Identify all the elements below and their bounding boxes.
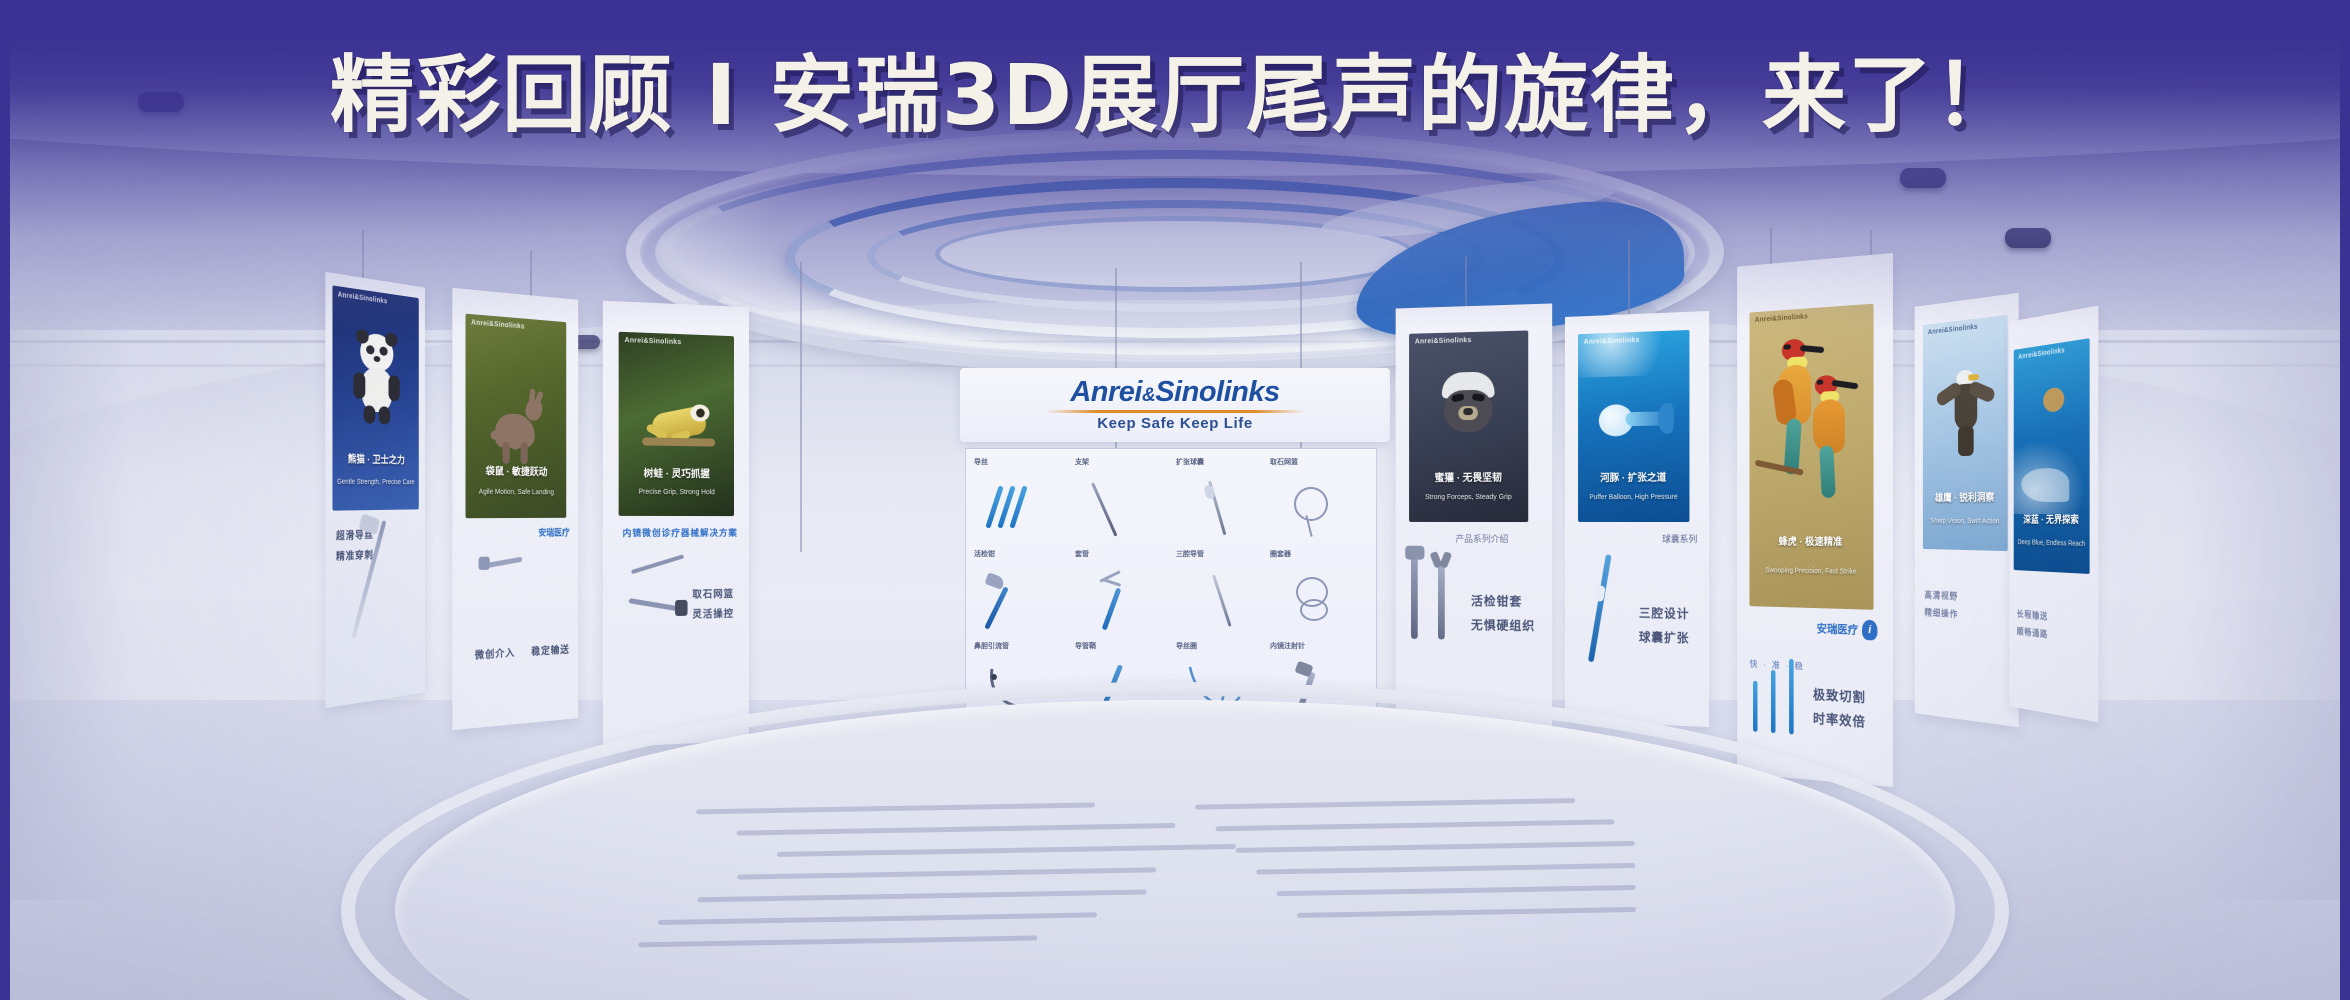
product-cell-label: 内镜注射针 (1270, 641, 1305, 651)
poster-brand-label: Anrei&Sinolinks (1415, 337, 1472, 345)
panel-note: 产品系列介绍 (1455, 532, 1508, 545)
poster-subtitle: Sharp Vision, Swift Action (1923, 517, 2008, 525)
exhibit-panel-kangaroo[interactable]: Anrei&Sinolinks 袋鼠 · 敏捷跃动 Agile Motion, … (452, 288, 578, 730)
poster-brand-label: Anrei&Sinolinks (2018, 347, 2064, 361)
spot-light-icon (2005, 228, 2051, 248)
panel-caption-2: 精准穿刺 (336, 546, 374, 563)
poster-title: 袋鼠 · 敏捷跃动 (466, 462, 567, 479)
exhibit-panel-beeeater[interactable]: Anrei&Sinolinks (1737, 253, 1893, 787)
panel-product-line: 内镜微创诊疗器械解决方案 (623, 526, 738, 539)
instrument-icon (1186, 477, 1254, 537)
metric-bar (1789, 659, 1794, 735)
poster-brand-label: Anrei&Sinolinks (1928, 323, 1978, 336)
poster-brand-label: Anrei&Sinolinks (471, 319, 525, 330)
product-cell-label: 导管鞘 (1075, 641, 1096, 651)
panel-caption-2: 顺畅通路 (2017, 624, 2048, 640)
product-cell-label: 鼻胆引流管 (974, 641, 1009, 651)
poster-subtitle: Gentle Strength, Precise Care (332, 479, 418, 486)
poster-subtitle: Puffer Balloon, High Pressure (1578, 494, 1689, 501)
poster-title: 深蓝 · 无界探索 (2014, 511, 2090, 527)
poster-frog[interactable]: Anrei&Sinolinks 树蛙 · 灵巧抓握 Precise Grip, … (619, 332, 734, 516)
panel-caption-1: 取石网篮 (692, 585, 734, 600)
panel-brand-mark: 安瑞医疗 (538, 526, 569, 539)
panel-caption-1: 微创介入 (475, 644, 515, 662)
product-cell[interactable]: 扩张球囊 (1172, 455, 1272, 547)
instrument-icon (1085, 569, 1153, 629)
poster-subtitle: Strong Forceps, Steady Grip (1409, 494, 1528, 501)
exhibit-panel-eagle[interactable]: Anrei&Sinolinks 雄鹰 · 锐利洞察 Sharp Vision, … (1915, 293, 2019, 727)
panel-caption-2: 灵活操控 (692, 605, 734, 621)
left-wall-shade (10, 300, 130, 900)
instrument-icon (1085, 477, 1153, 537)
poster-subtitle: Deep Blue, Endless Reach (2014, 539, 2090, 548)
product-cell-label: 三腔导管 (1176, 549, 1204, 559)
poster-ocean[interactable]: Anrei&Sinolinks 深蓝 · 无界探索 Deep Blue, End… (2014, 338, 2090, 574)
floor-text-block (676, 792, 1674, 809)
panel-metric-label: 快 · 准 · 稳 (1749, 657, 1804, 673)
instrument-icon (1280, 477, 1348, 537)
poster-title: 蜜獾 · 无畏坚韧 (1409, 469, 1528, 485)
poster-brand-label: Anrei&Sinolinks (625, 337, 682, 346)
poster-subtitle: Agile Motion, Safe Landing (466, 489, 567, 497)
exhibit-panel-frog[interactable]: Anrei&Sinolinks 树蛙 · 灵巧抓握 Precise Grip, … (603, 301, 749, 748)
instrument-icon (1186, 569, 1254, 629)
exhibit-panel-badger[interactable]: Anrei&Sinolinks 蜜獾 · 无畏坚韧 Strong Forceps… (1396, 303, 1553, 728)
poster-subtitle: Precise Grip, Strong Hold (619, 489, 734, 497)
product-cell[interactable]: 三腔导管 (1172, 547, 1272, 639)
poster-puffer[interactable]: Anrei&Sinolinks 河豚 · 扩张之道 Puffer Balloon… (1578, 330, 1689, 522)
panel-caption-2: 无惧硬组织 (1471, 616, 1535, 634)
instrument-icon (984, 569, 1052, 629)
info-icon: i (1862, 620, 1877, 641)
spot-light-icon (1900, 168, 1946, 188)
panel-caption-1: 高清视野 (1925, 588, 1959, 603)
product-cell-label: 导丝 (974, 457, 988, 467)
exhibit-panel-panda[interactable]: Anrei&Sinolinks 熊猫 · 卫士之力 (325, 272, 425, 708)
panel-note: 球囊系列 (1662, 532, 1697, 545)
metric-bar (1753, 681, 1757, 732)
instrument-icon (1280, 569, 1348, 629)
poster-subtitle: Swooping Precision, Fast Strike (1749, 567, 1873, 576)
poster-title: 熊猫 · 卫士之力 (332, 450, 418, 467)
metric-bar (1771, 670, 1776, 733)
page-title: 精彩回顾 I 安瑞3D展厅尾声的旋律，来了！ (10, 28, 2340, 149)
instrument-icon (984, 477, 1052, 537)
poster-eagle[interactable]: Anrei&Sinolinks 雄鹰 · 锐利洞察 Sharp Vision, … (1923, 315, 2008, 551)
product-cell-label: 圈套器 (1270, 549, 1291, 559)
product-cell[interactable]: 套管 (1071, 547, 1171, 639)
product-cell-label: 套管 (1075, 549, 1089, 559)
product-cell[interactable]: 活检钳 (970, 547, 1070, 639)
exhibit-panel-ocean[interactable]: Anrei&Sinolinks 深蓝 · 无界探索 Deep Blue, End… (2009, 306, 2098, 723)
product-cell-label: 扩张球囊 (1176, 457, 1204, 467)
exhibition-hall-banner: Anrei&Sinolinks Keep Safe Keep Life Anre… (0, 0, 2350, 1000)
poster-kangaroo[interactable]: Anrei&Sinolinks 袋鼠 · 敏捷跃动 Agile Motion, … (466, 314, 567, 519)
exhibit-panel-puffer[interactable]: Anrei&Sinolinks 河豚 · 扩张之道 Puffer Balloon… (1565, 311, 1709, 727)
panel-caption-1: 长程输送 (2017, 607, 2048, 623)
poster-brand-label: Anrei&Sinolinks (1755, 313, 1808, 324)
product-cell[interactable]: 圈套器 (1266, 547, 1366, 639)
product-cell-label: 取石网篮 (1270, 457, 1298, 467)
panel-caption-1: 活检钳套 (1471, 592, 1522, 610)
panel-caption-2: 精细操作 (1925, 605, 1959, 620)
poster-panda[interactable]: Anrei&Sinolinks 熊猫 · 卫士之力 (332, 285, 418, 510)
panel-brand-text: 安瑞医疗 (1817, 620, 1858, 638)
poster-beeeater[interactable]: Anrei&Sinolinks (1749, 304, 1873, 610)
exhibition-room: Anrei&Sinolinks Keep Safe Keep Life Anre… (10, 0, 2340, 1000)
panel-caption-2: 球囊扩张 (1639, 628, 1690, 646)
poster-badger[interactable]: Anrei&Sinolinks 蜜獾 · 无畏坚韧 Strong Forceps… (1409, 330, 1528, 522)
product-cell[interactable]: 导丝 (970, 455, 1070, 547)
poster-brand-label: Anrei&Sinolinks (338, 291, 388, 305)
right-wall-shade (2180, 300, 2340, 900)
panel-caption-1: 极致切割 (1813, 684, 1866, 706)
panel-caption-2: 稳定输送 (531, 641, 569, 658)
poster-title: 蜂虎 · 极速精准 (1749, 533, 1873, 549)
product-cell[interactable]: 取石网篮 (1266, 455, 1366, 547)
poster-title: 河豚 · 扩张之道 (1578, 468, 1689, 484)
poster-title: 雄鹰 · 锐利洞察 (1923, 488, 2008, 504)
product-cell-label: 支架 (1075, 457, 1089, 467)
product-cell-label: 活检钳 (974, 549, 995, 559)
product-cell[interactable]: 支架 (1071, 455, 1171, 547)
panel-caption-2: 时率效倍 (1813, 708, 1866, 731)
product-cell-label: 导丝圈 (1176, 641, 1197, 651)
panel-caption-1: 三腔设计 (1639, 604, 1690, 622)
panel-brand-block: 安瑞医疗 i (1817, 618, 1878, 640)
poster-title: 树蛙 · 灵巧抓握 (619, 464, 734, 480)
